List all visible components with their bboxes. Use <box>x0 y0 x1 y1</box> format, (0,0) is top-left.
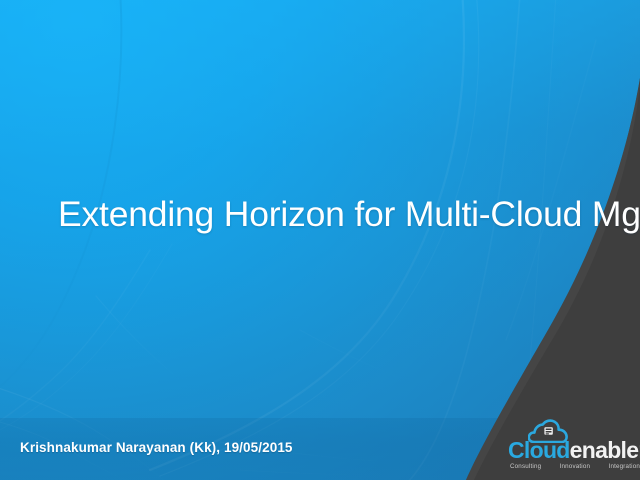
company-logo: Cloudenablers Consulting Innovation Inte… <box>508 419 636 475</box>
slide-byline: Krishnakumar Narayanan (Kk), 19/05/2015 <box>20 440 293 455</box>
logo-wordmark: Cloudenablers <box>508 439 636 461</box>
dark-corner-swoosh <box>0 0 640 480</box>
logo-tagline-item-consulting: Consulting <box>510 463 541 471</box>
logo-word-secondary: enablers <box>570 437 640 463</box>
logo-tagline-item-innovation: Innovation <box>560 463 591 471</box>
logo-tagline: Consulting Innovation Integration <box>510 463 640 471</box>
slide-title: Extending Horizon for Multi-Cloud Mgmt <box>58 193 603 235</box>
logo-word-primary: Cloud <box>508 437 570 463</box>
logo-tagline-item-integration: Integration <box>609 463 640 471</box>
presentation-title-slide: Extending Horizon for Multi-Cloud Mgmt K… <box>0 0 640 480</box>
